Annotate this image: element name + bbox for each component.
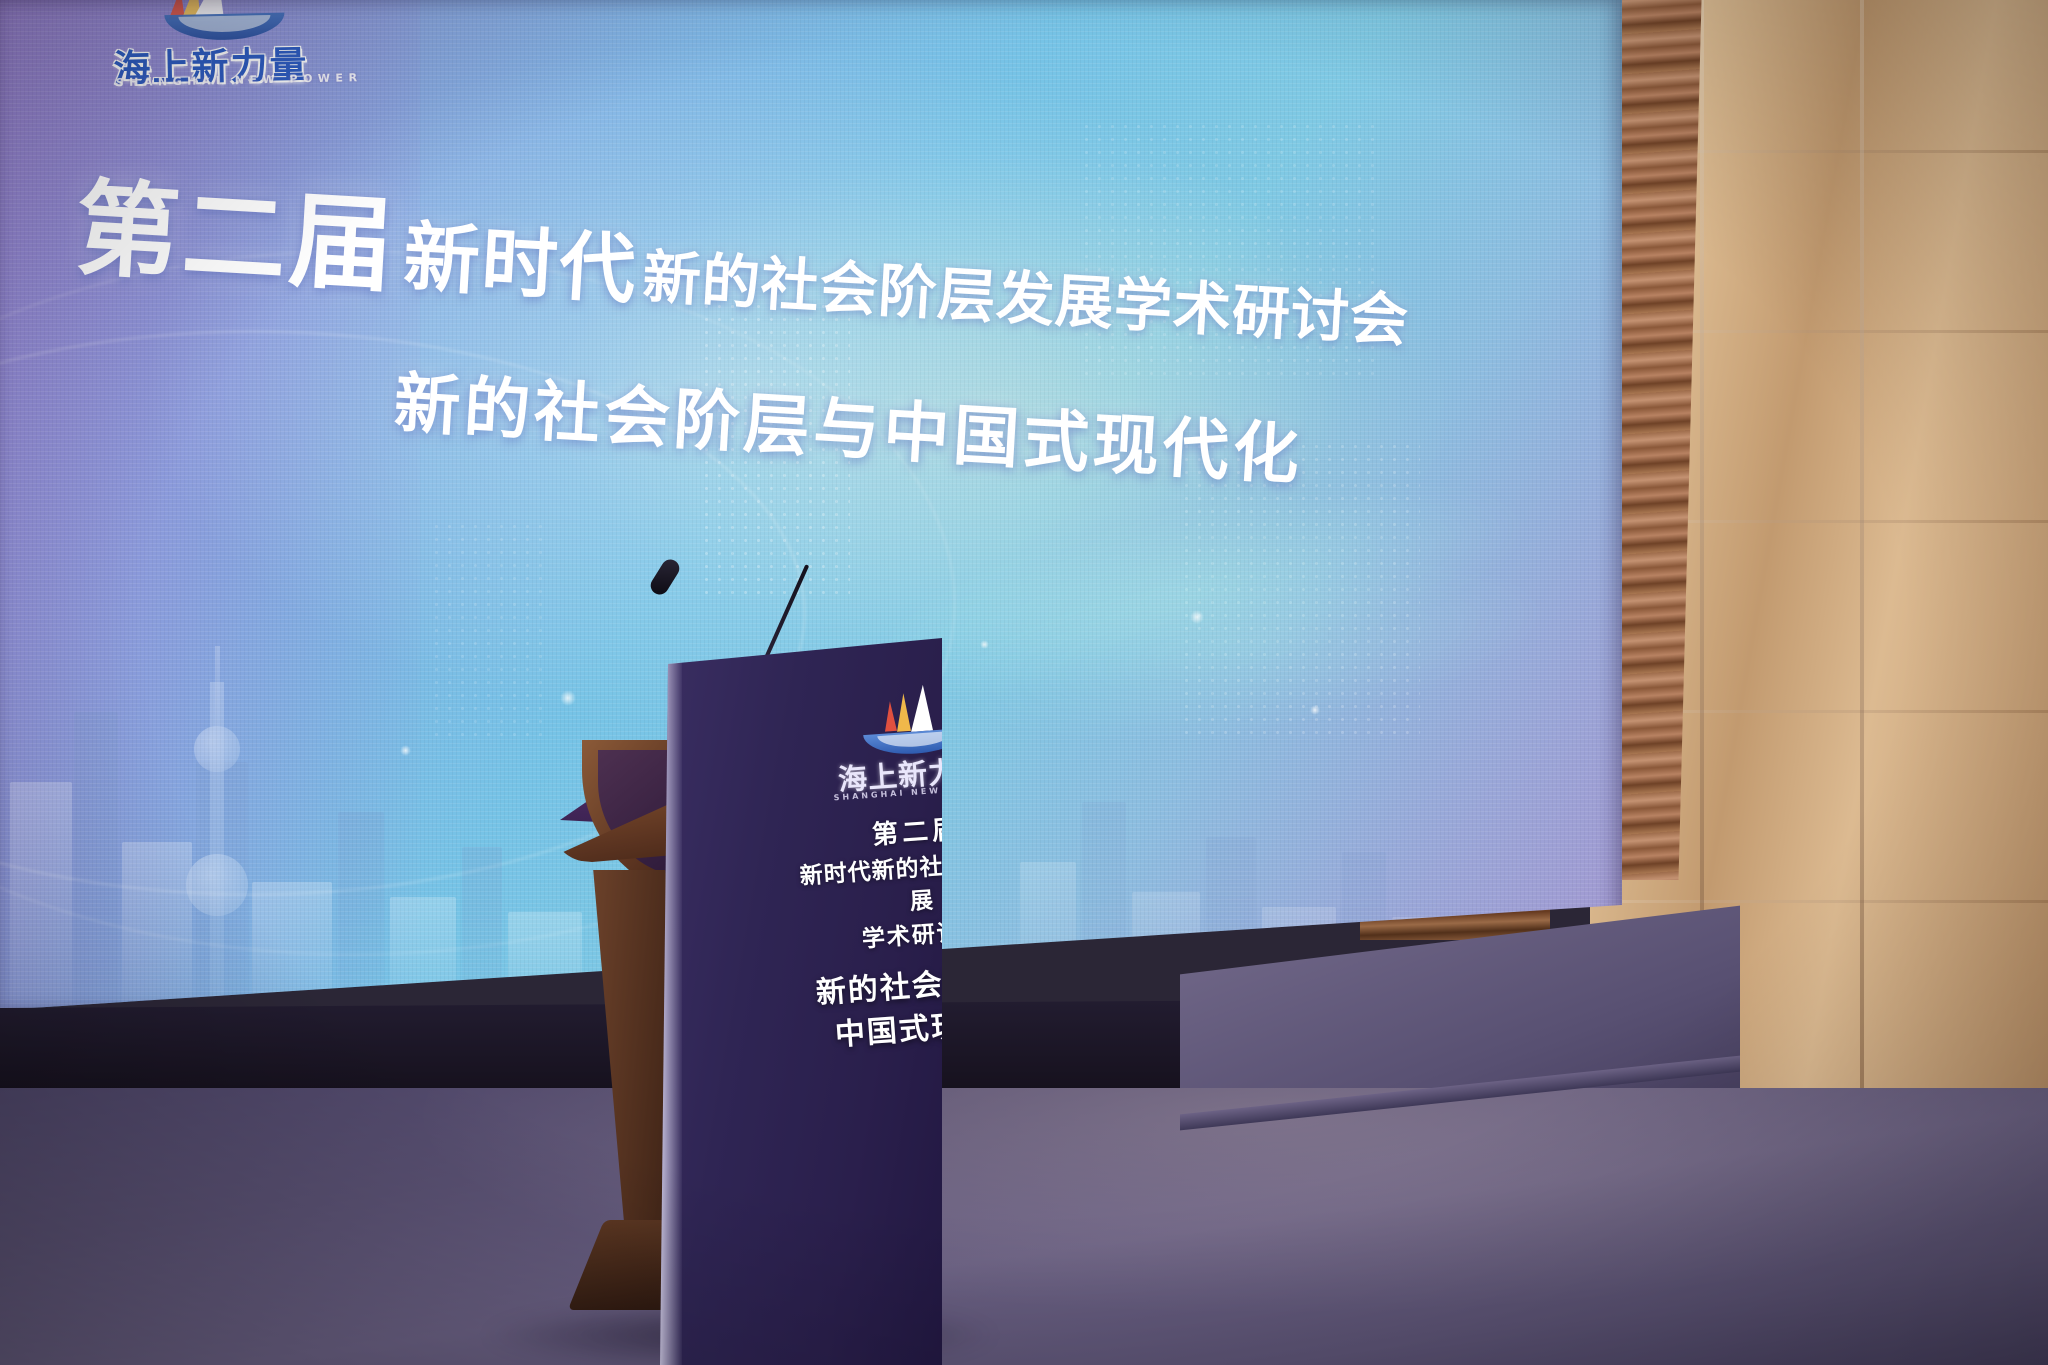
lectern-placard-panel: 海上新力量 SHANGHAI NEW POWER 第二届 新时代新的社会阶层发展… — [660, 638, 942, 1365]
lectern: 海上新力量 SHANGHAI NEW POWER 第二届 新时代新的社会阶层发展… — [560, 620, 980, 1365]
wall-seam-vertical — [1860, 0, 1864, 1120]
carpet-highlight — [0, 1088, 2048, 1365]
conference-stage-photo: 海上新力量 SHANGHAI NEW POWER 第二届 新时代 新的社会阶层发… — [0, 0, 2048, 1365]
sail-white-icon — [908, 684, 933, 731]
